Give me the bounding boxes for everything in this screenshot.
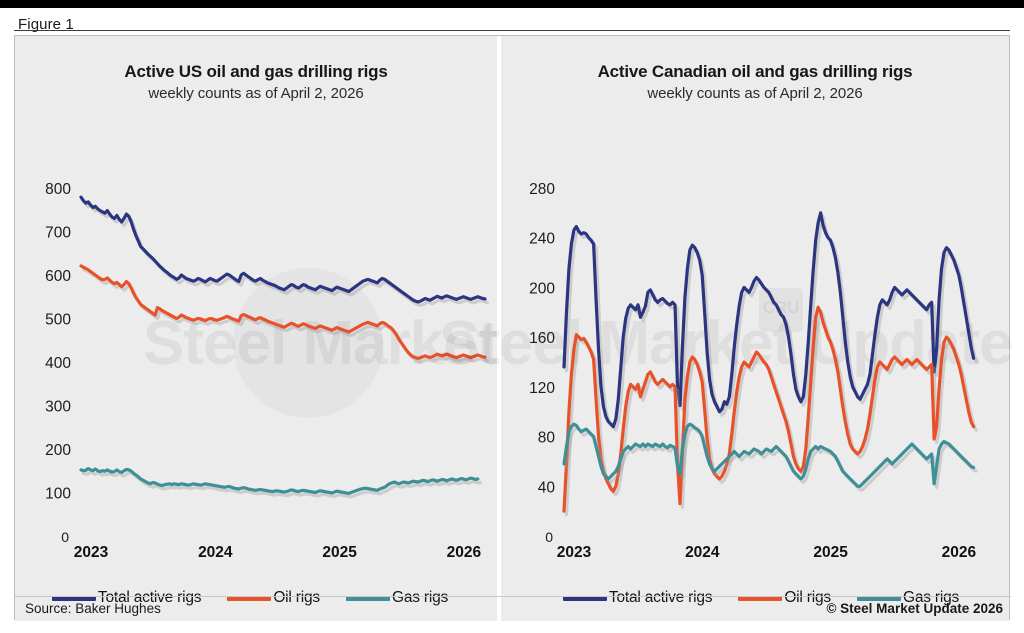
svg-us-series-oil-rigs: [81, 266, 485, 359]
svg-us-ytick-800: 800: [45, 181, 71, 198]
copyright-text: © Steel Market Update 2026: [826, 601, 1003, 616]
svg-canada-ytick-40: 40: [538, 479, 556, 496]
svg-us-ytick-500: 500: [45, 312, 71, 329]
svg-us-xtick-2024: 2024: [198, 544, 233, 561]
svg-canada-xtick-2023: 2023: [557, 544, 592, 561]
svg-us-ytick-0: 0: [61, 529, 69, 545]
svg-us-ytick-100: 100: [45, 486, 71, 503]
svg-canada-xtick-2025: 2025: [813, 544, 848, 561]
svg-canada-xtick-2026: 2026: [942, 544, 977, 561]
svg-us-ytick-600: 600: [45, 268, 71, 285]
top-black-bar: [0, 0, 1024, 8]
svg-canada-ytick-120: 120: [529, 380, 555, 397]
canada-plot-svg: 040801201602002402802023202420252026: [501, 36, 1009, 621]
canada-plot-wrap: 040801201602002402802023202420252026: [501, 36, 1009, 621]
source-text: Source: Baker Hughes: [25, 601, 161, 616]
figure-root: Figure 1 Steel Market Update Active US o…: [0, 0, 1024, 633]
panel-us-chart: Steel Market Update Active US oil and ga…: [15, 36, 497, 621]
svg-canada-xtick-2024: 2024: [685, 544, 720, 561]
svg-canada-ytick-200: 200: [529, 280, 555, 297]
us-plot-wrap: 0100200300400500600700800202320242025202…: [15, 36, 497, 621]
svg-canada-ytick-160: 160: [529, 330, 555, 347]
figure-underline: [14, 30, 1010, 31]
us-plot-svg: 0100200300400500600700800202320242025202…: [15, 36, 497, 621]
svg-us-ytick-700: 700: [45, 225, 71, 242]
svg-canada-ytick-0: 0: [545, 529, 553, 545]
svg-canada-ytick-280: 280: [529, 181, 555, 198]
svg-us-series-shadow-1: [84, 269, 488, 362]
figure-label-row: Figure 1: [0, 8, 1024, 30]
svg-us-series-total-active-rigs: [81, 197, 485, 302]
footer-row: Source: Baker Hughes © Steel Market Upda…: [15, 596, 1011, 620]
svg-canada-ytick-80: 80: [538, 430, 556, 447]
footer-separator: [15, 596, 1011, 597]
svg-canada-series-total-active-rigs: [564, 213, 974, 427]
svg-us-ytick-200: 200: [45, 442, 71, 459]
svg-us-xtick-2026: 2026: [447, 544, 482, 561]
svg-canada-ytick-240: 240: [529, 231, 555, 248]
svg-us-xtick-2023: 2023: [74, 544, 109, 561]
svg-canada-series-shadow-2: [567, 428, 977, 490]
svg-us-ytick-400: 400: [45, 355, 71, 372]
charts-frame: Steel Market Update Active US oil and ga…: [14, 35, 1010, 620]
svg-canada-series-shadow-1: [567, 311, 977, 515]
panel-canada-chart: Steel Market Update CRU Active Canadian …: [501, 36, 1009, 621]
svg-us-xtick-2025: 2025: [322, 544, 357, 561]
svg-us-ytick-300: 300: [45, 399, 71, 416]
